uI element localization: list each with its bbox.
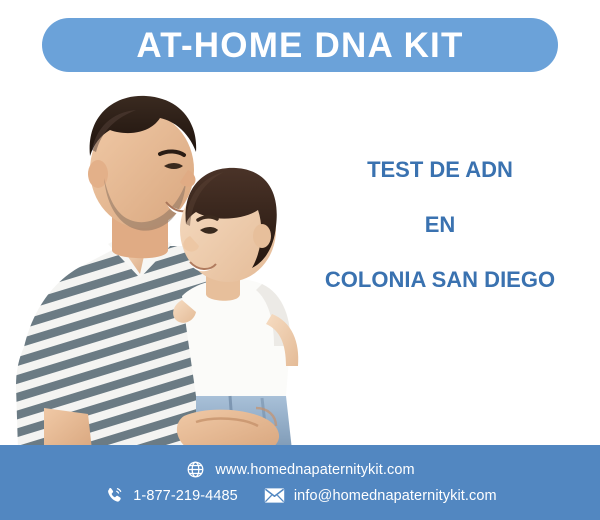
child-ear — [253, 224, 271, 248]
headline-block: TEST DE ADN EN COLONIA SAN DIEGO — [290, 158, 590, 293]
globe-icon — [185, 459, 206, 480]
photo-illustration — [0, 78, 330, 450]
phone-text: 1-877-219-4485 — [133, 488, 238, 504]
headline-line-3: COLONIA SAN DIEGO — [290, 268, 590, 292]
website-item[interactable]: www.homednapaternitykit.com — [185, 459, 414, 480]
email-item[interactable]: info@homednapaternitykit.com — [264, 485, 497, 506]
hero-photo — [0, 78, 330, 450]
promo-banner: AT-HOME DNA KIT — [0, 0, 600, 520]
headline-line-2: EN — [290, 213, 590, 237]
envelope-icon — [264, 485, 285, 506]
website-text: www.homednapaternitykit.com — [215, 462, 414, 478]
contact-footer: www.homednapaternitykit.com 1-877-219-44… — [0, 445, 600, 520]
email-text: info@homednapaternitykit.com — [294, 488, 497, 504]
man-forearm — [44, 408, 92, 450]
phone-item[interactable]: 1-877-219-4485 — [103, 485, 238, 506]
footer-row-contact: 1-877-219-4485 info@homednapaternitykit.… — [103, 485, 497, 506]
phone-icon — [103, 485, 124, 506]
footer-row-website: www.homednapaternitykit.com — [185, 459, 414, 480]
headline-line-1: TEST DE ADN — [290, 158, 590, 182]
header-pill: AT-HOME DNA KIT — [42, 18, 558, 72]
page-title: AT-HOME DNA KIT — [136, 28, 463, 63]
